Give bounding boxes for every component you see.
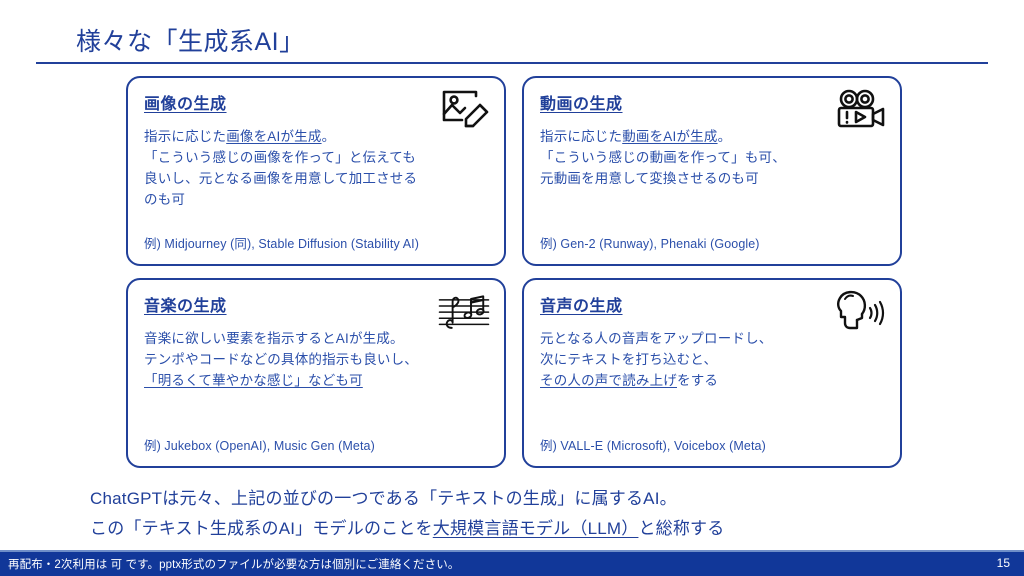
body-line: 良いし、元となる画像を用意して加工させる xyxy=(144,168,490,189)
body-line: テンポやコードなどの具体的指示も良いし、 xyxy=(144,349,490,370)
card-voice-generation[interactable]: 音声の生成 元となる人の音声をアップロードし、 次にテキストを打ち込むと、 その… xyxy=(522,278,902,468)
card-body: 指示に応じた動画をAIが生成。 「こういう感じの動画を作って」も可、 元動画を用… xyxy=(540,126,886,189)
page-title: 様々な「生成系AI」 xyxy=(76,22,305,58)
summary-line-1: ChatGPTは元々、上記の並びの一つである「テキストの生成」に属するAI。 xyxy=(90,484,950,514)
card-example: 例) VALL-E (Microsoft), Voicebox (Meta) xyxy=(540,435,766,454)
card-heading: 音楽の生成 xyxy=(144,292,227,316)
body-line: 元動画を用意して変換させるのも可 xyxy=(540,168,886,189)
body-line: 「こういう感じの画像を作って」と伝えても xyxy=(144,147,490,168)
body-line: 元となる人の音声をアップロードし、 xyxy=(540,328,886,349)
card-example: 例) Gen-2 (Runway), Phenaki (Google) xyxy=(540,233,760,252)
body-line: 指示に応じた動画をAIが生成。 xyxy=(540,126,886,147)
body-line: 「こういう感じの動画を作って」も可、 xyxy=(540,147,886,168)
card-example: 例) Jukebox (OpenAI), Music Gen (Meta) xyxy=(144,435,375,454)
body-line: 音楽に欲しい要素を指示するとAIが生成。 xyxy=(144,328,490,349)
footer-bar: 再配布・2次利用は 可 です。pptx形式のファイルが必要な方は個別にご連絡くだ… xyxy=(0,550,1024,576)
card-heading: 画像の生成 xyxy=(144,90,227,114)
card-body: 音楽に欲しい要素を指示するとAIが生成。 テンポやコードなどの具体的指示も良いし… xyxy=(144,328,490,391)
card-example: 例) Midjourney (同), Stable Diffusion (Sta… xyxy=(144,233,419,252)
card-video-generation[interactable]: 動画の生成 指示に応じた動画をAIが生成。 「こういう感じの動画を作って」も可、… xyxy=(522,76,902,266)
body-line: のも可 xyxy=(144,189,490,210)
body-line: その人の声で読み上げをする xyxy=(540,370,886,391)
generative-ai-card-grid: 画像の生成 指示に応じた画像をAIが生成。 「こういう感じの画像を作って」と伝え… xyxy=(126,76,902,468)
card-heading: 音声の生成 xyxy=(540,292,623,316)
card-image-generation[interactable]: 画像の生成 指示に応じた画像をAIが生成。 「こういう感じの画像を作って」と伝え… xyxy=(126,76,506,266)
card-body: 元となる人の音声をアップロードし、 次にテキストを打ち込むと、 その人の声で読み… xyxy=(540,328,886,391)
card-music-generation[interactable]: 音楽の生成 音楽に欲しい要素を指示するとAIが生成。 テンポやコードなどの具体的… xyxy=(126,278,506,468)
page-number: 15 xyxy=(997,556,1010,570)
footer-note: 再配布・2次利用は 可 です。pptx形式のファイルが必要な方は個別にご連絡くだ… xyxy=(8,556,459,572)
body-line: 指示に応じた画像をAIが生成。 xyxy=(144,126,490,147)
card-heading: 動画の生成 xyxy=(540,90,623,114)
card-body: 指示に応じた画像をAIが生成。 「こういう感じの画像を作って」と伝えても 良いし… xyxy=(144,126,490,210)
summary-line-2: この「テキスト生成系のAI」モデルのことを大規模言語モデル（LLM）と総称する xyxy=(90,514,950,544)
title-divider xyxy=(36,62,988,64)
body-line: 次にテキストを打ち込むと、 xyxy=(540,349,886,370)
body-line: 「明るくて華やかな感じ」なども可 xyxy=(144,370,490,391)
summary-text: ChatGPTは元々、上記の並びの一つである「テキストの生成」に属するAI。 こ… xyxy=(90,484,950,544)
